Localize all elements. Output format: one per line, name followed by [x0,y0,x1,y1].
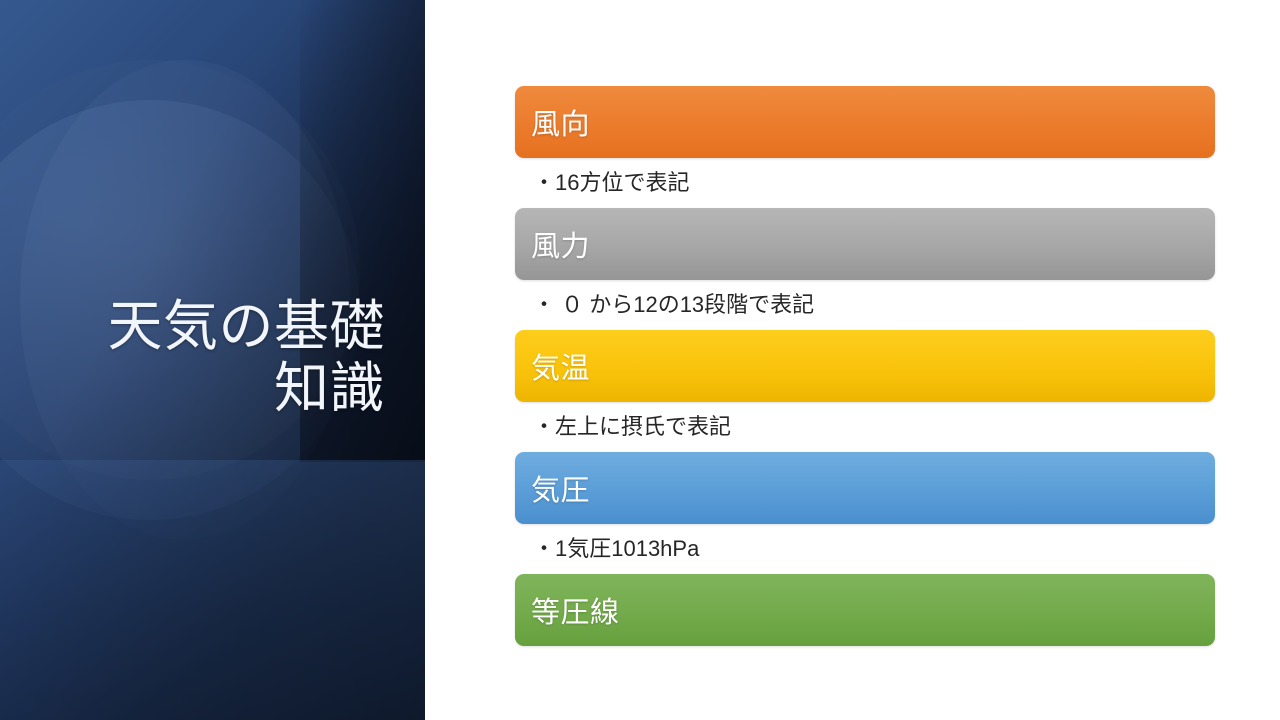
slide-canvas: 天気の基礎 知識 風向 ・16方位で表記 風力 ・ ０ から12の13段階で表記… [0,0,1280,720]
page-title: 天気の基礎 知識 [40,296,385,419]
panel-lower-band [0,460,425,720]
section-bar-wind-force[interactable]: 風力 [515,208,1215,280]
bullet-row: ・16方位で表記 [515,158,1215,208]
content-list: 風向 ・16方位で表記 風力 ・ ０ から12の13段階で表記 気温 ・左上に摂… [515,86,1215,646]
list-item: 気圧 ・1気圧1013hPa [515,452,1215,574]
bullet-text: ・1気圧1013hPa [533,538,699,560]
bullet-row: ・1気圧1013hPa [515,524,1215,574]
bullet-text: ・ ０ から12の13段階で表記 [533,294,814,316]
bullet-text: ・16方位で表記 [533,172,689,194]
section-bar-temperature[interactable]: 気温 [515,330,1215,402]
section-bar-wind-direction[interactable]: 風向 [515,86,1215,158]
bullet-row: ・ ０ から12の13段階で表記 [515,280,1215,330]
section-bar-label: 等圧線 [515,589,620,631]
bullet-row: ・左上に摂氏で表記 [515,402,1215,452]
section-bar-label: 気温 [515,345,590,387]
section-bar-label: 風力 [515,223,590,265]
list-item: 風向 ・16方位で表記 [515,86,1215,208]
list-item: 風力 ・ ０ から12の13段階で表記 [515,208,1215,330]
section-bar-pressure[interactable]: 気圧 [515,452,1215,524]
section-bar-label: 気圧 [515,467,590,509]
list-item: 気温 ・左上に摂氏で表記 [515,330,1215,452]
section-bar-label: 風向 [515,101,590,143]
section-bar-isobar[interactable]: 等圧線 [515,574,1215,646]
list-item: 等圧線 [515,574,1215,646]
title-panel: 天気の基礎 知識 [0,0,425,720]
bullet-text: ・左上に摂氏で表記 [533,416,731,438]
